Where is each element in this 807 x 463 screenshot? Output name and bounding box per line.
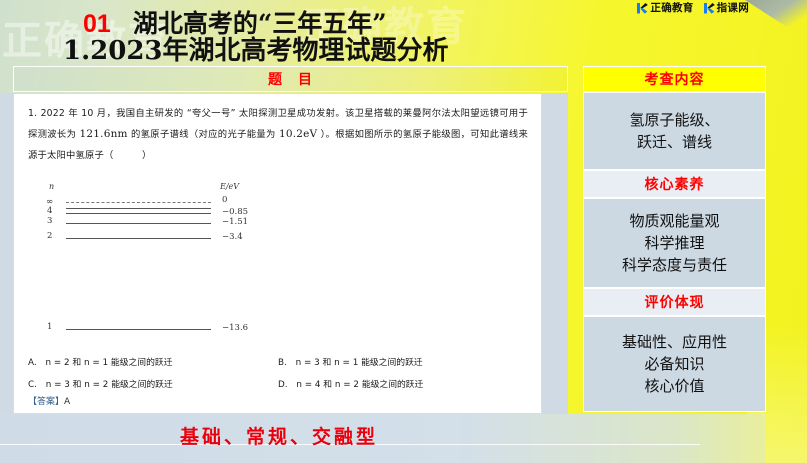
option-b[interactable]: B. n = 3 和 n = 1 能级之间的跃迁 [278,352,528,374]
diagram-n-axis-label: n [49,182,54,191]
level-line-4 [66,213,211,214]
page-subtitle: 1.2023年湖北高考物理试题分析 [63,30,449,67]
zhengque-jiaoyu-label: 正确教育 [650,3,693,14]
right-column: 考查内容 氢原子能级、跃迁、谱线核心素养物质观能量观科学推理科学态度与责任评价体… [583,66,766,414]
logo-bar: 正确教育 指课网 [636,2,749,15]
exam-content-value-line-2: 跃迁、谱线 [637,131,712,153]
question-column-header: 题 目 [13,66,568,92]
core-literacy-value-line-2: 科学推理 [644,232,704,254]
evaluation-value-line-2: 必备知识 [644,353,704,375]
exam-content-value: 氢原子能级、跃迁、谱线 [583,92,766,170]
option-row-2: C. n = 3 和 n = 2 能级之间的跃迁 D. n = 4 和 n = … [28,374,528,396]
level-n-4-label: 4 [47,206,52,216]
level-line-1 [66,329,211,330]
paper-left-margin [0,93,13,414]
level-line-2 [66,238,211,239]
option-c[interactable]: C. n = 3 和 n = 2 能级之间的跃迁 [28,374,278,396]
wavelength-value: 121.6nm [80,128,128,140]
level-line-3 [66,223,211,224]
level-energy-n3: −1.51 [222,217,248,227]
core-literacy-value: 物质观能量观科学推理科学态度与责任 [583,198,766,288]
banner-summary-text: 基础、常规、交融型 [180,422,378,449]
exam-content-header: 考查内容 [583,66,766,92]
level-n-2-label: 2 [47,231,52,241]
exam-content-value-line-1: 氢原子能级、 [629,109,719,131]
option-a[interactable]: A. n = 2 和 n = 1 能级之间的跃迁 [28,352,278,374]
question-options: A. n = 2 和 n = 1 能级之间的跃迁 B. n = 3 和 n = … [28,352,528,396]
answer-label: 【答案】 [28,397,64,407]
question-stem-part2: 的氢原子谱线（对应的光子能量为 [128,129,279,140]
bottom-banner [0,414,766,463]
level-line-infinity [66,202,211,203]
level-energy-n2: −3.4 [222,232,243,242]
core-literacy-value-line-3: 科学态度与责任 [622,254,727,276]
option-d[interactable]: D. n = 4 和 n = 2 能级之间的跃迁 [278,374,528,396]
photon-energy-value: 10.2eV [279,128,317,140]
evaluation-header: 评价体现 [583,288,766,316]
question-paper: 1. 2022 年 10 月，我国自主研发的 “夸父一号” 太阳探测卫星成功发射… [13,93,542,414]
answer-line: 【答案】A [28,394,70,407]
level-n-1-label: 1 [47,322,52,332]
question-stem: 1. 2022 年 10 月，我国自主研发的 “夸父一号” 太阳探测卫星成功发射… [28,103,528,166]
zhikewang-label: 指课网 [717,3,749,14]
option-row-1: A. n = 2 和 n = 1 能级之间的跃迁 B. n = 3 和 n = … [28,352,528,374]
level-energy-n1: −13.6 [222,323,248,333]
core-literacy-value-line-1: 物质观能量观 [629,210,719,232]
evaluation-header-line-1: 评价体现 [645,292,705,312]
k-mark-icon [636,2,648,15]
right-table-body: 氢原子能级、跃迁、谱线核心素养物质观能量观科学推理科学态度与责任评价体现基础性、… [583,92,766,412]
level-line-extra [66,208,211,209]
hydrogen-energy-level-diagram: n E/eV ∞ 0 4 −0.85 3 −1.51 2 −3.4 1 −13.… [44,182,304,342]
core-literacy-header: 核心素养 [583,170,766,198]
core-literacy-header-line-1: 核心素养 [645,174,705,194]
evaluation-value-line-3: 核心价值 [644,375,704,397]
zhengque-jiaoyu-logo[interactable]: 正确教育 [636,2,693,15]
level-n-3-label: 3 [47,216,52,226]
answer-value: A [64,397,70,407]
level-energy-n4: −0.85 [222,207,248,217]
paper-right-margin [542,93,568,414]
evaluation-value: 基础性、应用性必备知识核心价值 [583,316,766,412]
evaluation-value-line-1: 基础性、应用性 [622,331,727,353]
k-mark-icon [703,2,715,15]
diagram-e-axis-label: E/eV [220,182,239,191]
zhikewang-logo[interactable]: 指课网 [703,2,749,15]
level-energy-0: 0 [222,195,227,205]
